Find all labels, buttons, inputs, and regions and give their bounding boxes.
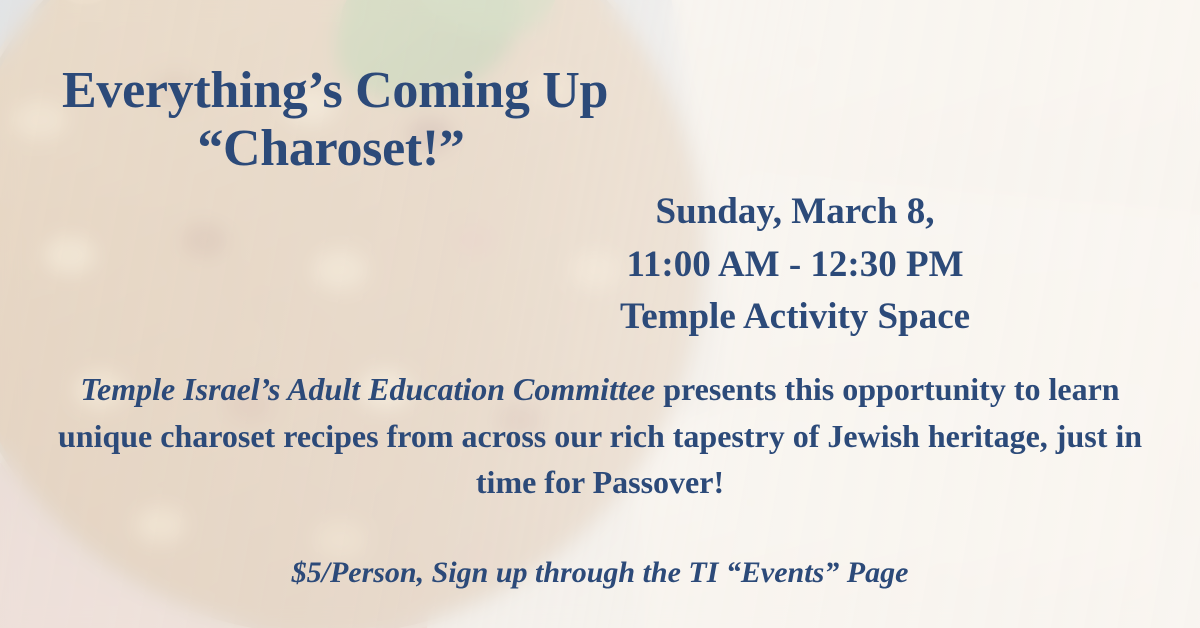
title-line-1: Everything’s Coming Up <box>0 62 760 120</box>
event-flyer: Everything’s Coming Up “Charoset!” Sunda… <box>0 0 1200 628</box>
event-time: 11:00 AM - 12:30 PM <box>560 239 1030 292</box>
flyer-title: Everything’s Coming Up “Charoset!” <box>0 62 760 178</box>
event-description: Temple Israel’s Adult Education Committe… <box>30 366 1170 506</box>
event-details: Sunday, March 8, 11:00 AM - 12:30 PM Tem… <box>560 186 1030 344</box>
title-line-2: “Charoset!” <box>0 120 600 178</box>
organizer-name: Temple Israel’s Adult Education Committe… <box>80 371 655 407</box>
event-location: Temple Activity Space <box>560 291 1030 344</box>
signup-info: $5/Person, Sign up through the TI “Event… <box>30 556 1170 590</box>
flyer-content: Everything’s Coming Up “Charoset!” Sunda… <box>0 0 1200 628</box>
event-date: Sunday, March 8, <box>560 186 1030 239</box>
